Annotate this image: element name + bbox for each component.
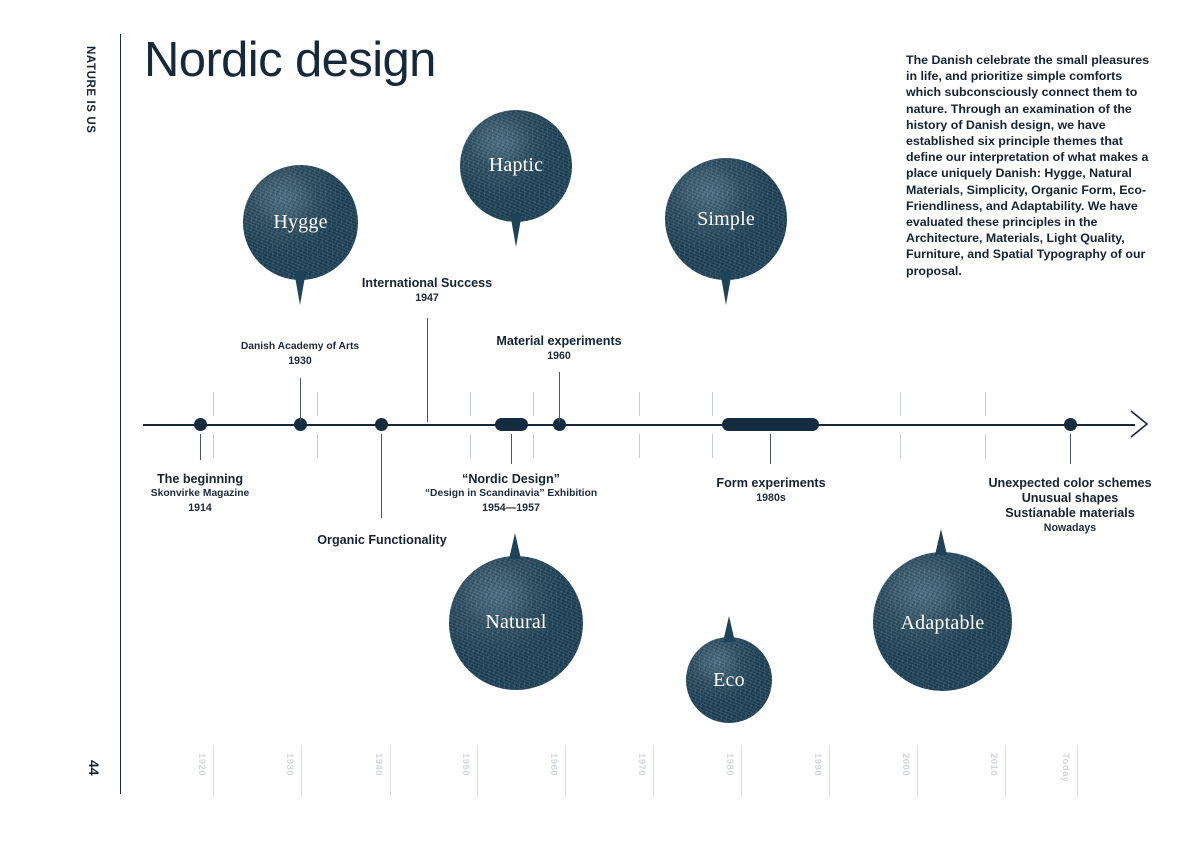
bubble-body — [243, 165, 358, 280]
axis-tick — [213, 434, 214, 458]
axis-tick — [985, 392, 986, 416]
event-title: Form experiments — [651, 476, 891, 491]
event-stem-now — [1070, 434, 1071, 464]
event-label-danish-academy[interactable]: Danish Academy of Arts 1930 — [180, 340, 420, 368]
ruler-tick — [213, 745, 214, 797]
section-label: NATURE IS US — [84, 46, 96, 134]
axis-tick — [317, 434, 318, 458]
theme-bubble-simple[interactable]: Simple — [665, 158, 787, 280]
event-year: 1930 — [180, 354, 420, 368]
ruler-label: 1940 — [373, 753, 384, 776]
event-label-the-beginning[interactable]: The beginning Skonvirke Magazine 1914 — [80, 472, 320, 515]
ruler-label: 1960 — [548, 753, 559, 776]
intro-paragraph: The Danish celebrate the small pleasures… — [906, 52, 1154, 279]
ruler-tick — [565, 745, 566, 797]
event-label-form-experiments[interactable]: Form experiments 1980s — [651, 476, 891, 505]
theme-bubble-natural[interactable]: Natural — [449, 556, 583, 690]
axis-node-1914[interactable] — [194, 418, 207, 431]
ruler-tick — [653, 745, 654, 797]
event-stem-organic — [381, 434, 382, 518]
ruler-label: Today — [1060, 753, 1071, 783]
axis-tick — [470, 434, 471, 458]
event-stem-1914 — [200, 434, 201, 460]
ruler-label: 1950 — [460, 753, 471, 776]
event-subtitle: Unusual shapes — [950, 491, 1190, 506]
page-number: 44 — [86, 760, 102, 776]
event-year: 1947 — [307, 291, 547, 305]
axis-node-nowadays[interactable] — [1064, 418, 1077, 431]
axis-tick — [639, 392, 640, 416]
event-title: Material experiments — [439, 334, 679, 349]
axis-tick — [533, 434, 534, 458]
ruler-label: 1990 — [812, 753, 823, 776]
axis-tick — [533, 392, 534, 416]
axis-tick — [712, 434, 713, 458]
ruler-label: 2000 — [900, 753, 911, 776]
event-year: Nowadays — [950, 521, 1190, 535]
event-label-nowadays[interactable]: Unexpected color schemes Unusual shapes … — [950, 476, 1190, 535]
bubble-body — [873, 552, 1012, 691]
ruler-tick — [301, 745, 302, 797]
axis-node-organic[interactable] — [375, 418, 388, 431]
axis-tick — [317, 392, 318, 416]
axis-tick — [985, 434, 986, 458]
event-title: The beginning — [80, 472, 320, 487]
event-title: International Success — [307, 276, 547, 291]
bubble-tail — [723, 616, 735, 642]
ruler-tick — [917, 745, 918, 797]
axis-tick — [213, 392, 214, 416]
ruler-label: 1970 — [636, 753, 647, 776]
theme-bubble-eco[interactable]: Eco — [686, 637, 772, 723]
poster-page: NATURE IS US 44 Nordic design The Danish… — [0, 0, 1200, 848]
bubble-tail — [294, 271, 306, 305]
ruler-tick — [1077, 745, 1078, 797]
ruler-tick — [1005, 745, 1006, 797]
event-title: “Nordic Design” — [391, 472, 631, 487]
event-stem-1960 — [559, 372, 560, 422]
event-year: 1980s — [651, 491, 891, 505]
event-label-organic-functionality[interactable]: Organic Functionality — [262, 533, 502, 548]
event-year: 1960 — [439, 349, 679, 363]
event-subtitle-2: Sustianable materials — [950, 506, 1190, 521]
axis-tick — [470, 392, 471, 416]
event-label-international-success[interactable]: International Success 1947 — [307, 276, 547, 305]
bubble-body — [449, 556, 583, 690]
ruler-tick — [390, 745, 391, 797]
ruler-tick — [477, 745, 478, 797]
axis-tick — [900, 434, 901, 458]
page-title: Nordic design — [144, 36, 436, 85]
theme-bubble-hygge[interactable]: Hygge — [243, 165, 358, 280]
event-year: 1954—1957 — [391, 501, 631, 515]
event-title: Unexpected color schemes — [950, 476, 1190, 491]
timeline-axis — [143, 424, 1135, 426]
axis-tick — [900, 392, 901, 416]
bubble-body — [686, 637, 772, 723]
ruler-label: 1930 — [284, 753, 295, 776]
theme-bubble-haptic[interactable]: Haptic — [460, 110, 572, 222]
event-title: Danish Academy of Arts — [180, 340, 420, 354]
bubble-tail — [509, 533, 521, 559]
bubble-tail — [510, 213, 522, 247]
left-rule — [120, 34, 121, 794]
axis-arrow-icon — [1128, 409, 1150, 439]
bubble-tail — [720, 271, 732, 305]
event-stem-form — [770, 434, 771, 464]
event-label-nordic-design[interactable]: “Nordic Design” “Design in Scandinavia” … — [391, 472, 631, 515]
event-subtitle: “Design in Scandinavia” Exhibition — [391, 487, 631, 501]
ruler-label: 1920 — [196, 753, 207, 776]
theme-bubble-adaptable[interactable]: Adaptable — [873, 552, 1012, 691]
event-label-material-experiments[interactable]: Material experiments 1960 — [439, 334, 679, 363]
axis-tick — [712, 392, 713, 416]
event-title: Organic Functionality — [262, 533, 502, 548]
ruler-tick — [829, 745, 830, 797]
event-stem-1930 — [300, 378, 301, 422]
axis-bar-form-experiments[interactable] — [722, 418, 819, 431]
bubble-body — [460, 110, 572, 222]
event-stem-1947 — [427, 318, 428, 422]
ruler-tick — [741, 745, 742, 797]
axis-tick — [639, 434, 640, 458]
ruler-label: 1980 — [724, 753, 735, 776]
event-year: 1914 — [80, 501, 320, 515]
event-stem-nordic — [511, 434, 512, 464]
axis-bar-nordic-design[interactable] — [495, 418, 528, 431]
bubble-body — [665, 158, 787, 280]
ruler-label: 2010 — [988, 753, 999, 776]
event-subtitle: Skonvirke Magazine — [80, 487, 320, 501]
bubble-tail — [935, 529, 947, 555]
